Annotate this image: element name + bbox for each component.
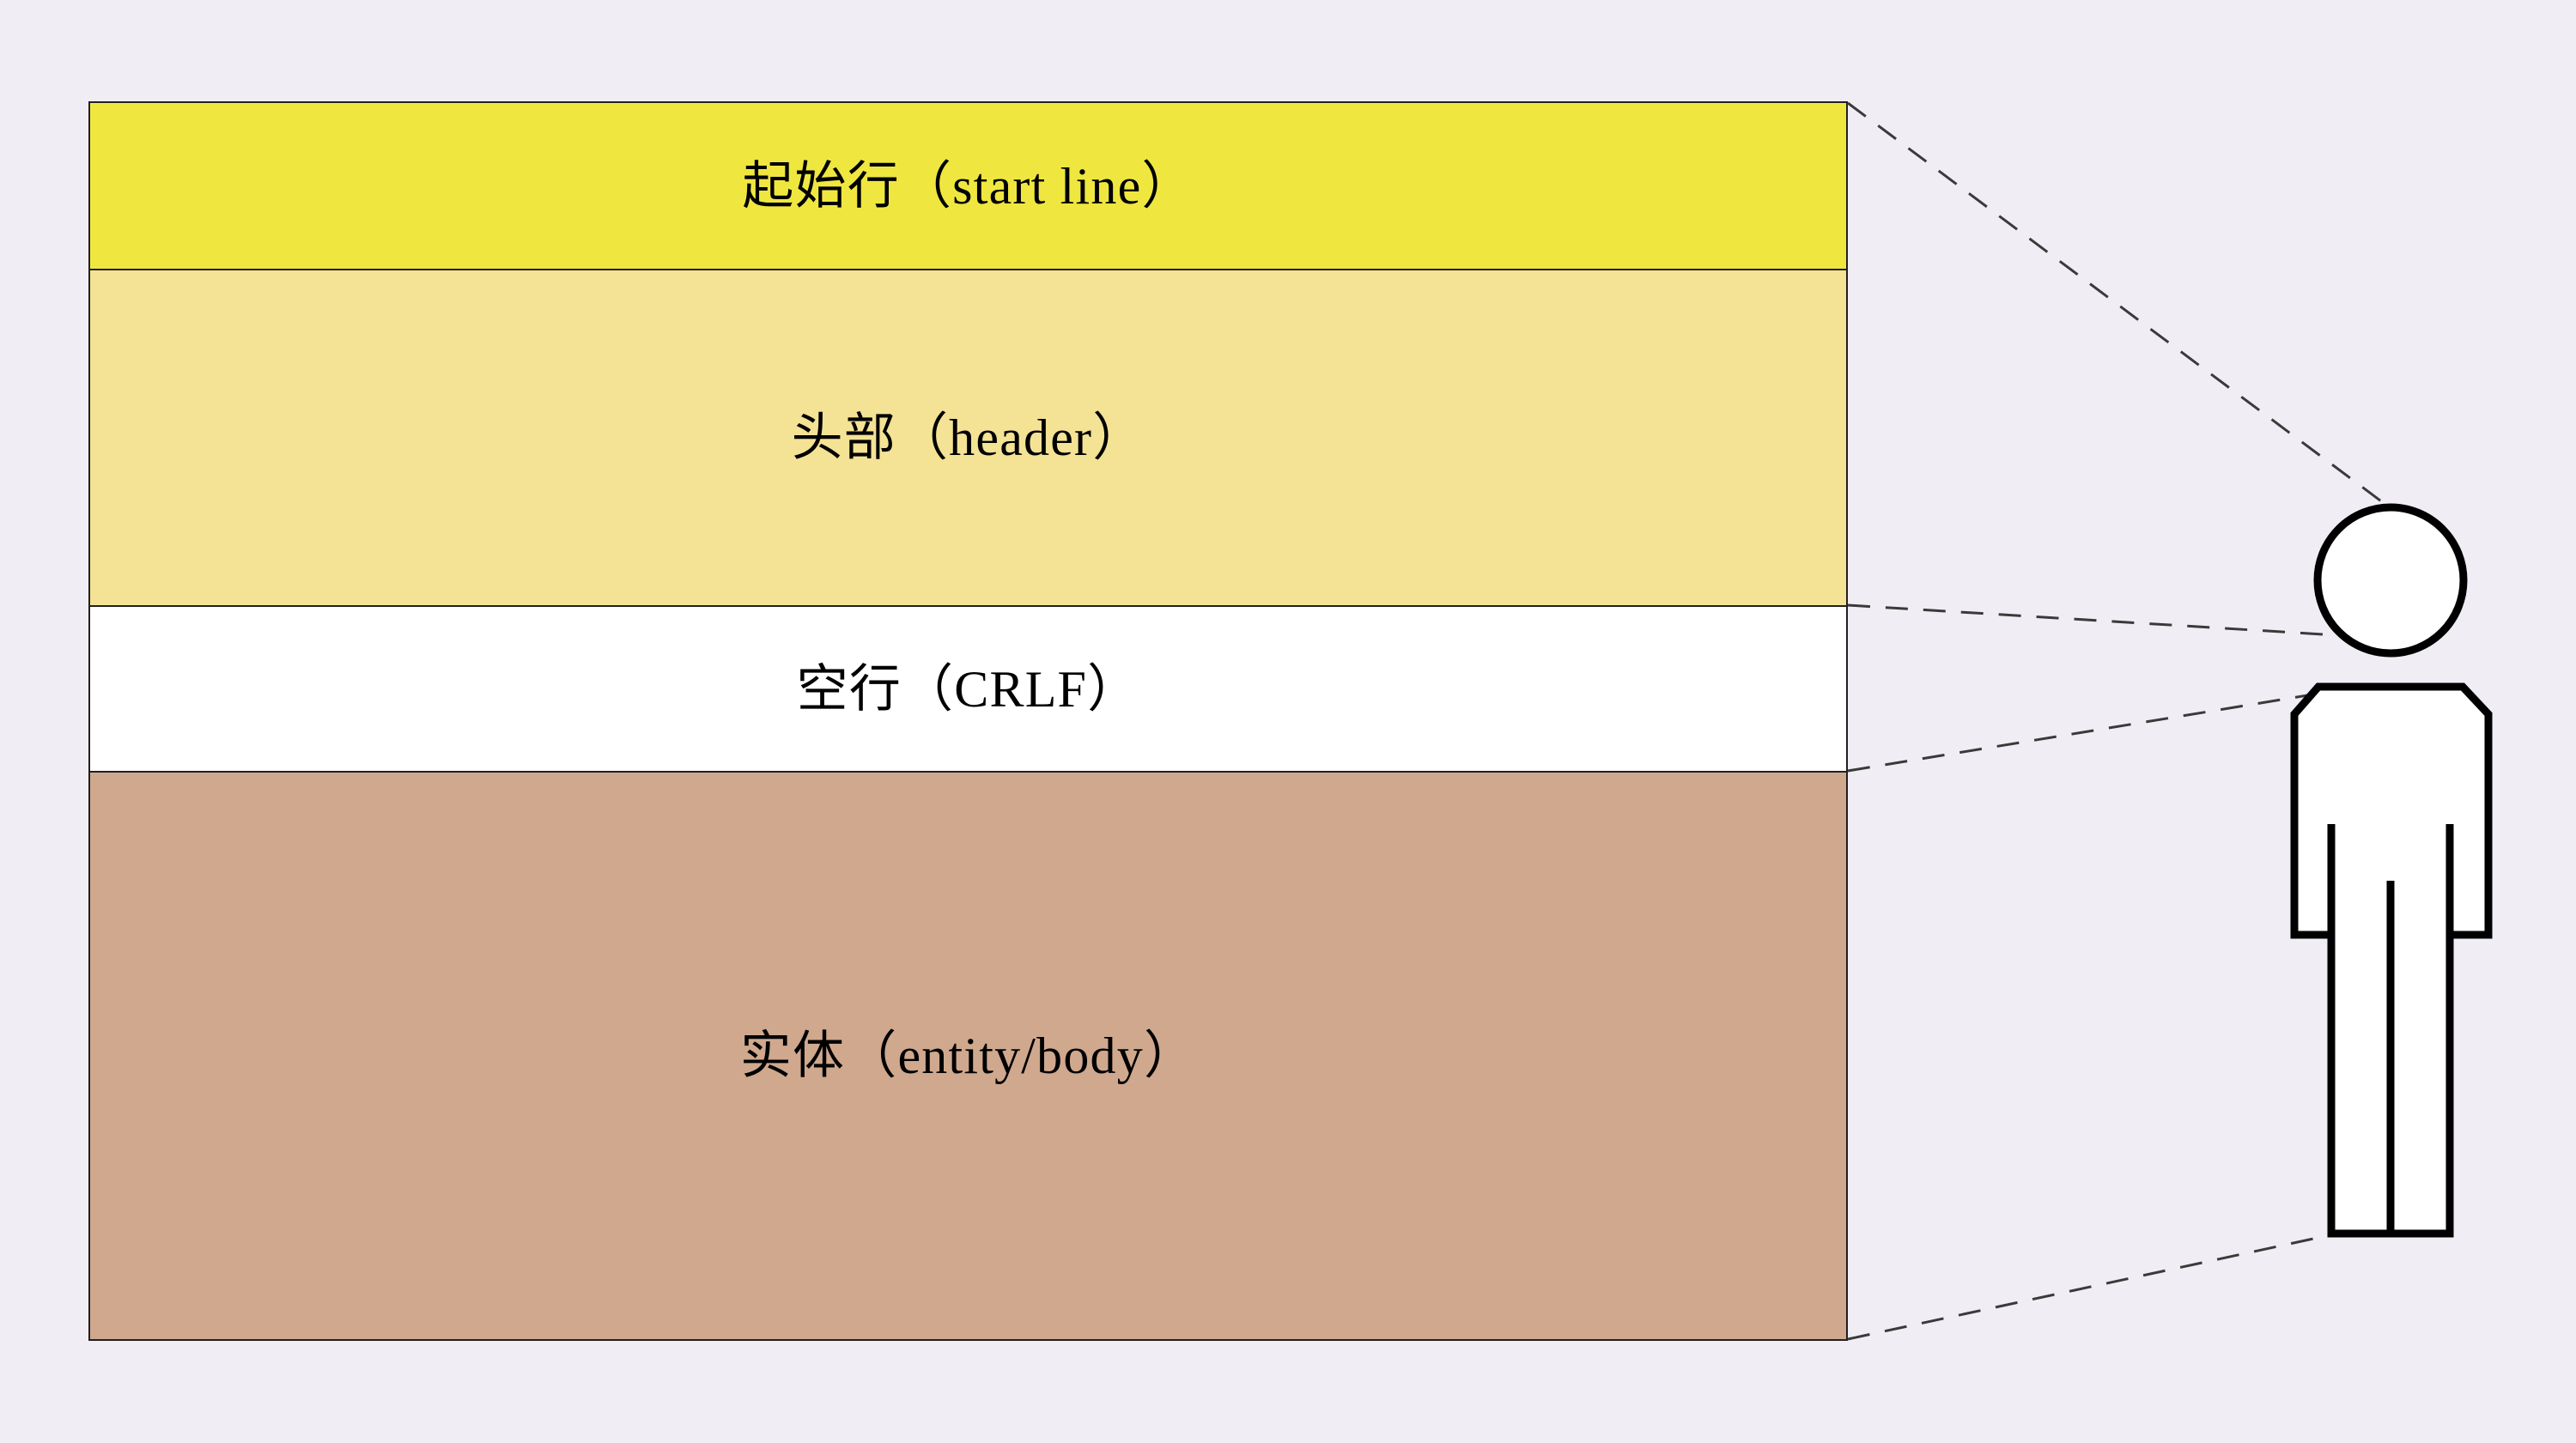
actor-head-icon xyxy=(2318,507,2464,653)
diagram-canvas: 起始行（start line） 头部（header） 空行（CRLF） 实体（e… xyxy=(0,0,2576,1443)
actor-figure[interactable] xyxy=(0,0,2576,1443)
